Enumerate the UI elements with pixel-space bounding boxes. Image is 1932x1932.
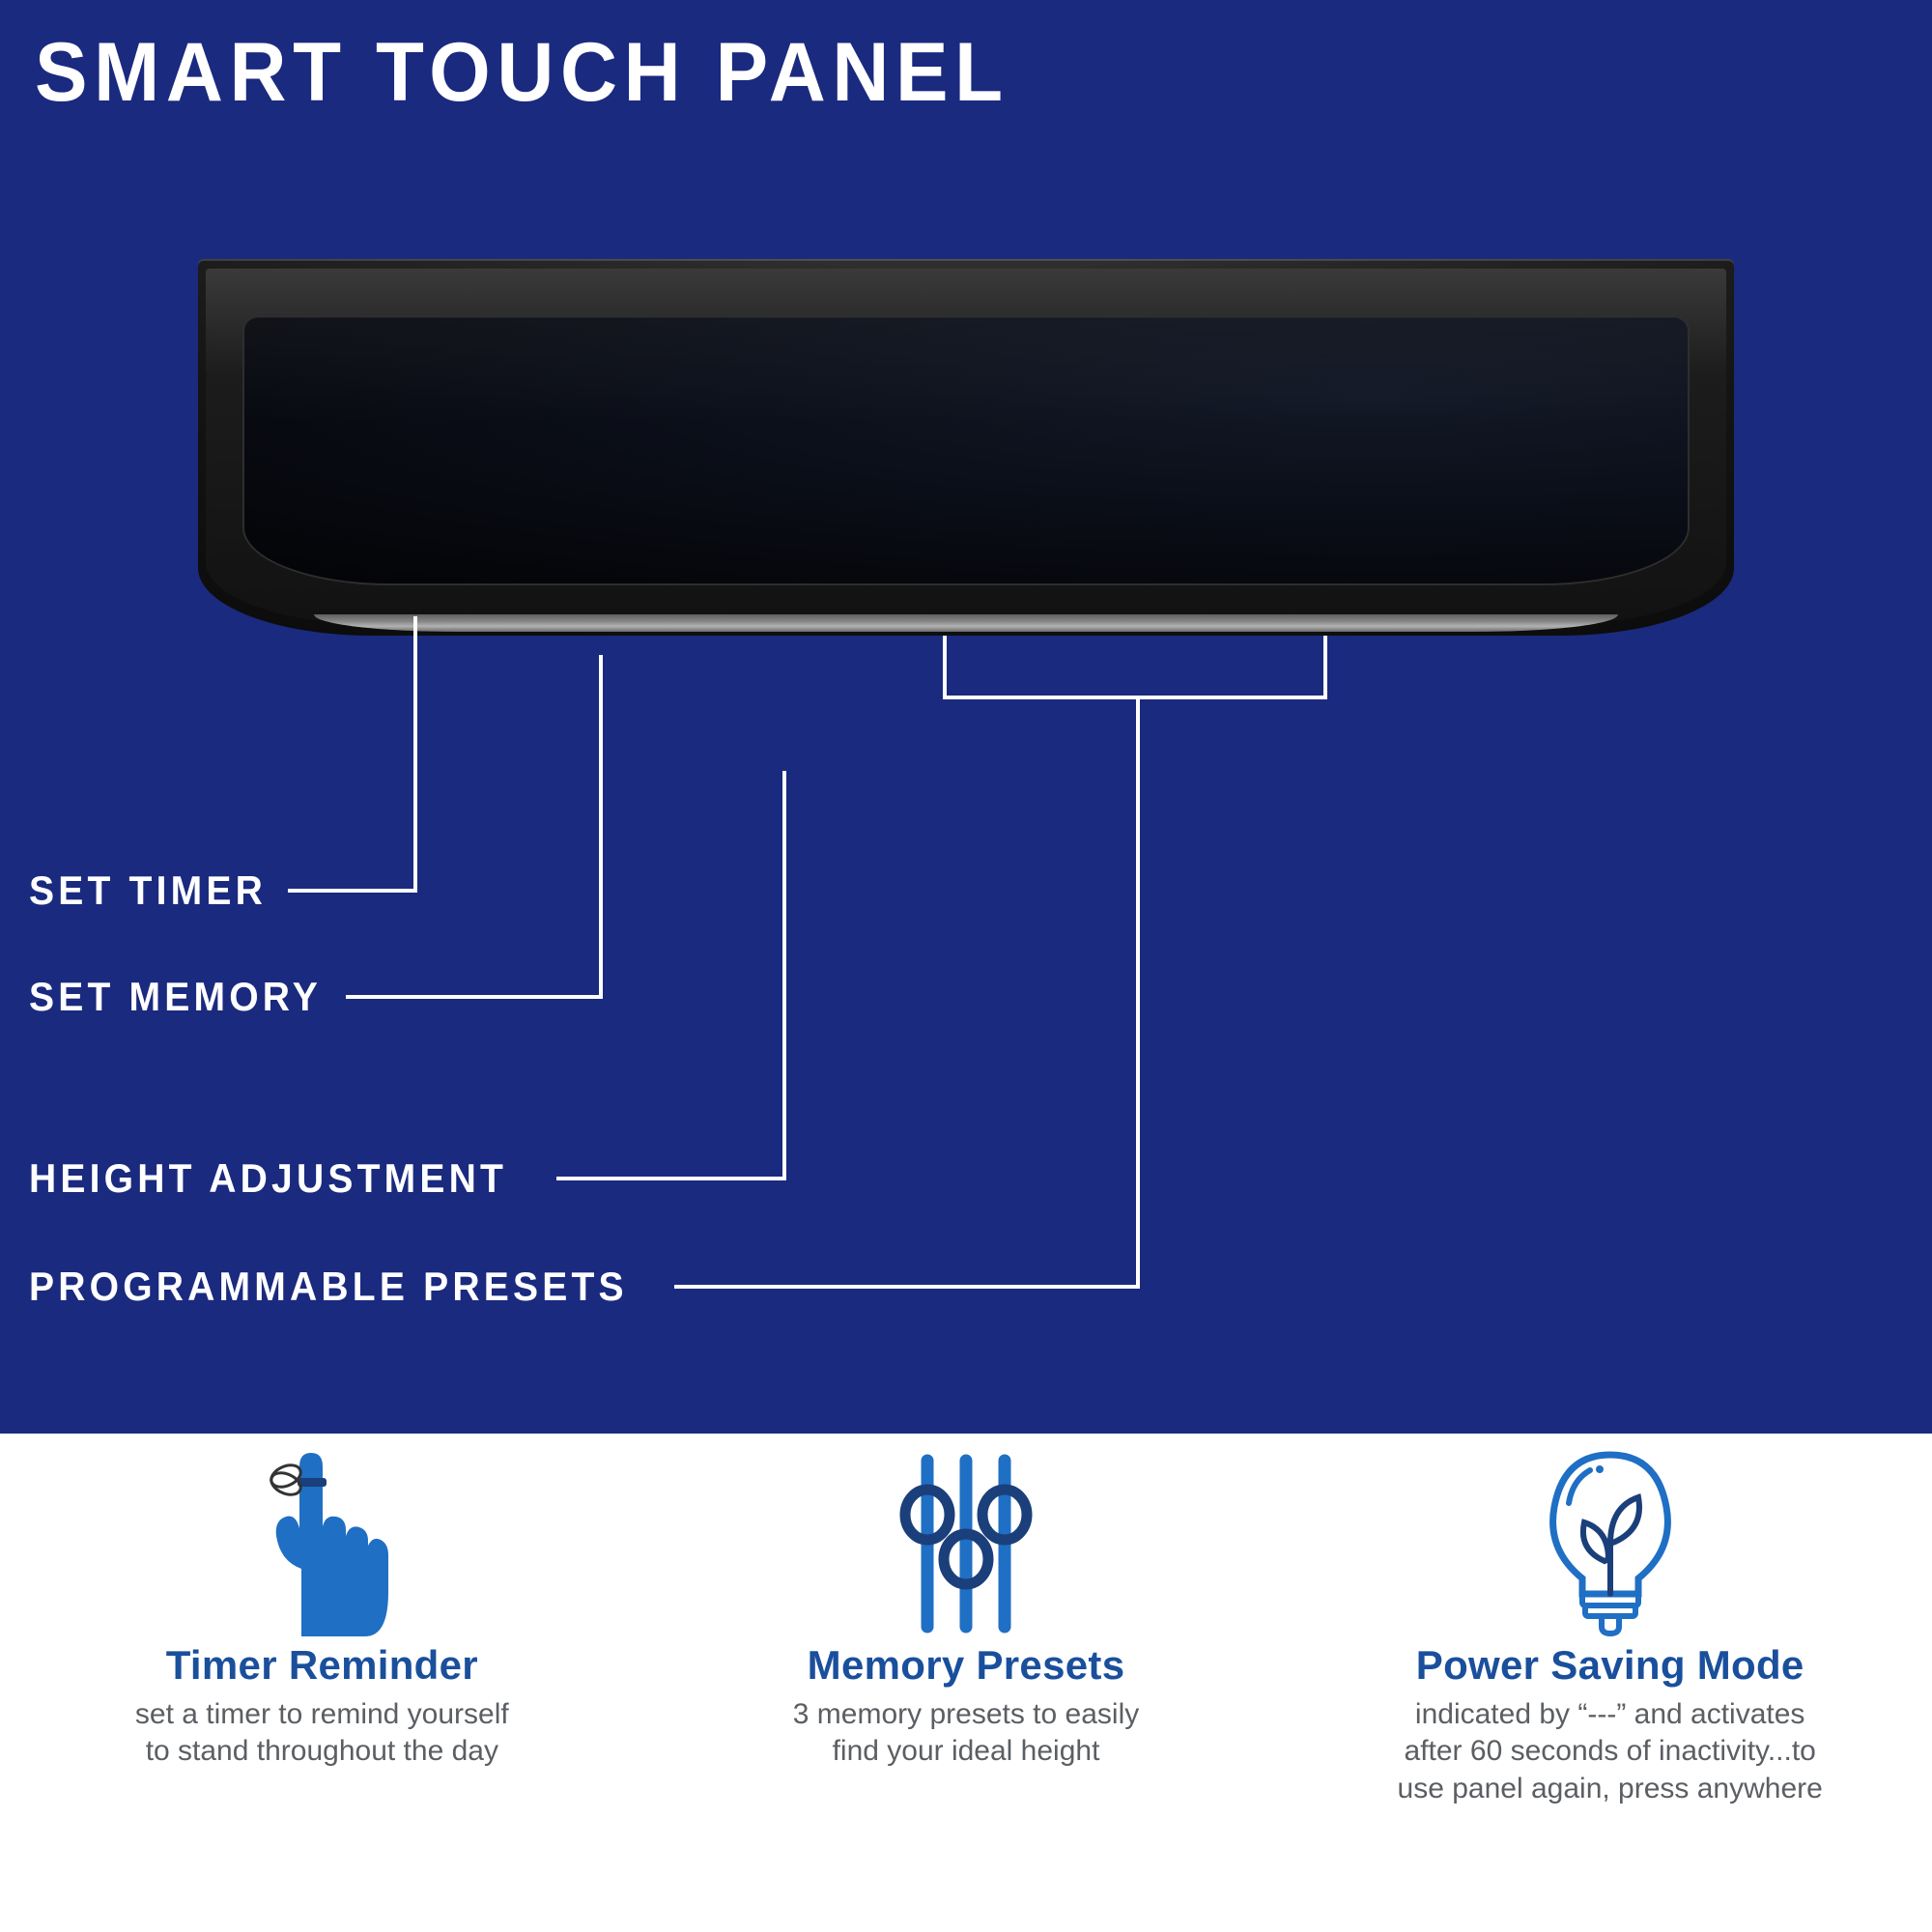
feature-desc-line: find your ideal height (793, 1733, 1139, 1770)
feature-power-saving-mode: Power Saving Mode indicated by “---” and… (1288, 1434, 1932, 1932)
feature-description: indicated by “---” and activates after 6… (1398, 1696, 1823, 1807)
sliders-icon (874, 1447, 1058, 1640)
feature-desc-line: to stand throughout the day (135, 1733, 509, 1770)
feature-title: Power Saving Mode (1416, 1642, 1804, 1689)
page-title: SMART TOUCH PANEL (35, 25, 1009, 121)
feature-description: set a timer to remind yourself to stand … (135, 1696, 509, 1771)
panel-housing: T M 1 (198, 259, 1734, 636)
feature-desc-line: indicated by “---” and activates (1398, 1696, 1823, 1733)
feature-title: Memory Presets (808, 1642, 1125, 1689)
pointing-finger-with-reminder-string-icon (230, 1447, 413, 1640)
infographic-page: SMART TOUCH PANEL T M (0, 0, 1932, 1932)
feature-description: 3 memory presets to easily find your ide… (793, 1696, 1139, 1771)
feature-desc-line: use panel again, press anywhere (1398, 1771, 1823, 1807)
touch-glass-surface[interactable]: T M 1 (244, 317, 1688, 583)
panel-bottom-lip (314, 614, 1618, 632)
callout-lines (0, 0, 1932, 1434)
feature-title: Timer Reminder (166, 1642, 478, 1689)
lightbulb-with-plant-icon (1519, 1447, 1702, 1640)
callout-label-set-timer: SET TIMER (29, 867, 267, 914)
glass-sheen (244, 317, 1688, 423)
hero-section: SMART TOUCH PANEL T M (0, 0, 1932, 1434)
feature-desc-line: 3 memory presets to easily (793, 1696, 1139, 1733)
feature-desc-line: after 60 seconds of inactivity...to (1398, 1733, 1823, 1770)
features-section: Timer Reminder set a timer to remind you… (0, 1434, 1932, 1932)
feature-timer-reminder: Timer Reminder set a timer to remind you… (0, 1434, 644, 1932)
feature-memory-presets: Memory Presets 3 memory presets to easil… (644, 1434, 1289, 1932)
callout-label-set-memory: SET MEMORY (29, 974, 322, 1020)
control-panel-image: T M 1 (198, 259, 1734, 636)
callout-label-height-adjustment: HEIGHT ADJUSTMENT (29, 1155, 507, 1202)
feature-desc-line: set a timer to remind yourself (135, 1696, 509, 1733)
callout-label-programmable-presets: PROGRAMMABLE PRESETS (29, 1264, 628, 1310)
